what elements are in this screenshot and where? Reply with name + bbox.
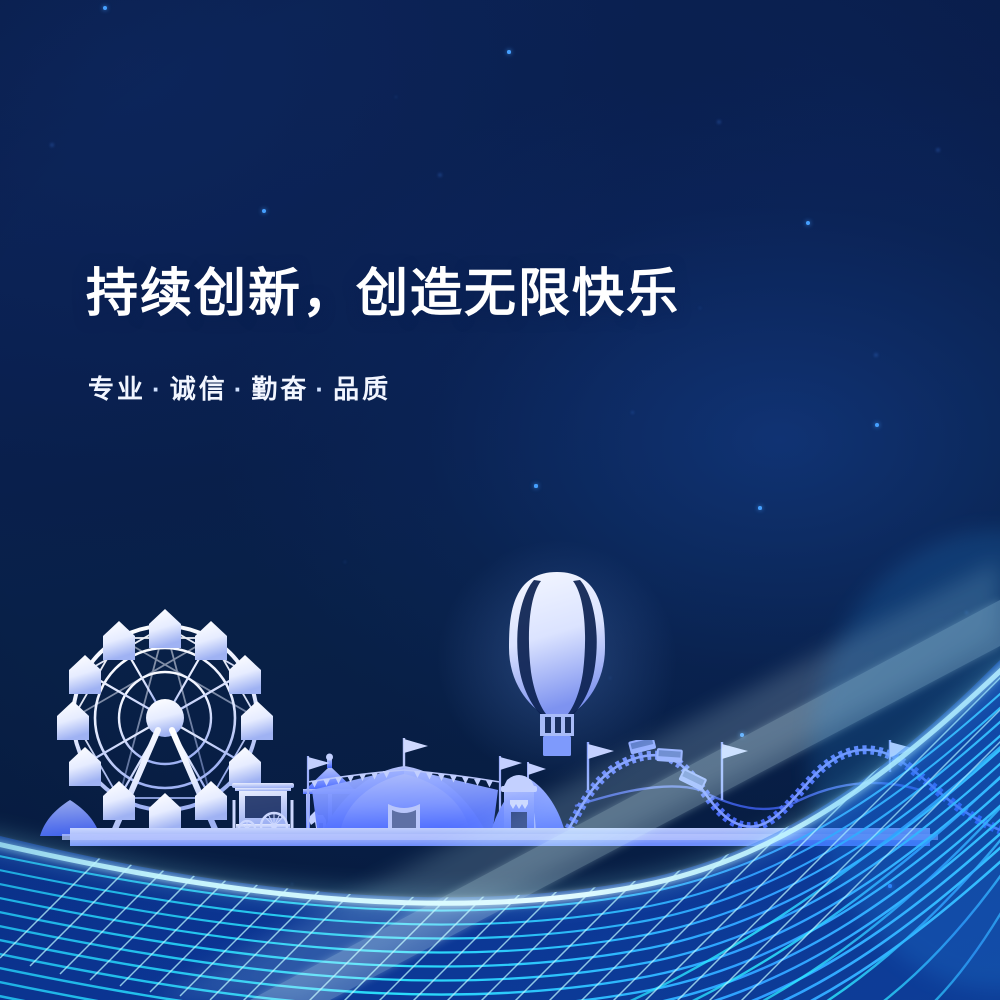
page-title: 持续创新，创造无限快乐	[86, 266, 680, 323]
subtitle-values: 专业·诚信·勤奋·品质	[88, 374, 391, 405]
subtitle-separator: ·	[228, 374, 252, 404]
subtitle-item: 诚信	[170, 374, 228, 404]
subtitle-item: 品质	[333, 374, 391, 404]
subtitle-separator: ·	[309, 374, 333, 404]
subtitle-item: 专业	[88, 374, 146, 404]
subtitle-separator: ·	[146, 374, 170, 404]
wave-mesh-graphic	[0, 0, 1000, 1000]
subtitle-item: 勤奋	[251, 374, 309, 404]
banner-stage: 持续创新，创造无限快乐 专业·诚信·勤奋·品质	[0, 0, 1000, 1000]
